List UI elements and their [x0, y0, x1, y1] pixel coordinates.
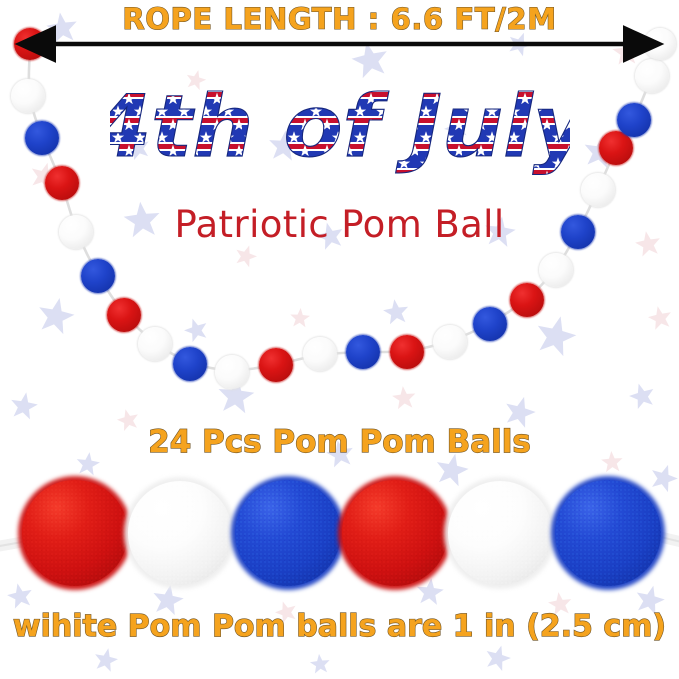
background-star-icon	[481, 641, 515, 674]
garland-bead-red	[259, 348, 293, 382]
title-text: 4th of July	[110, 78, 570, 177]
garland-bead-white	[215, 355, 249, 389]
garland-bead-red	[107, 298, 141, 332]
garland-bead-white	[138, 327, 172, 361]
pom-ball-red-1	[22, 480, 128, 586]
rope-length-label: ROPE LENGTH : 6.6 FT/2M	[0, 2, 679, 36]
pom-texture	[128, 481, 232, 585]
garland-bead-red	[390, 335, 424, 369]
pom-ball-blue-2	[555, 480, 661, 586]
background-star-icon	[91, 645, 122, 675]
pom-texture	[555, 480, 661, 586]
garland-bead-blue	[173, 347, 207, 381]
pom-ball-sample-row	[0, 463, 679, 603]
pom-texture	[235, 480, 341, 586]
background-star-icon	[308, 652, 332, 675]
pom-count-heading: 24 Pcs Pom Pom Balls	[0, 424, 679, 460]
pom-ball-red-2	[342, 480, 448, 586]
garland-bead-blue	[473, 307, 507, 341]
pom-size-caption: wihite Pom Pom balls are 1 in (2.5 cm)	[0, 609, 679, 644]
pom-ball-blue-1	[235, 480, 341, 586]
garland-bead-white	[303, 337, 337, 371]
pom-texture	[448, 481, 552, 585]
garland-bead-blue	[81, 259, 115, 293]
garland-bead-white	[539, 253, 573, 287]
garland-bead-white	[433, 325, 467, 359]
pom-ball-white-2	[448, 481, 552, 585]
pom-texture	[342, 480, 448, 586]
garland-bead-red	[510, 283, 544, 317]
pom-ball-white-1	[128, 481, 232, 585]
garland-bead-blue	[346, 335, 380, 369]
pom-texture	[22, 480, 128, 586]
product-infographic: ROPE LENGTH : 6.6 FT/2M	[0, 0, 679, 679]
page-title: 4th of July	[0, 78, 679, 182]
subtitle: Patriotic Pom Ball	[0, 203, 679, 246]
